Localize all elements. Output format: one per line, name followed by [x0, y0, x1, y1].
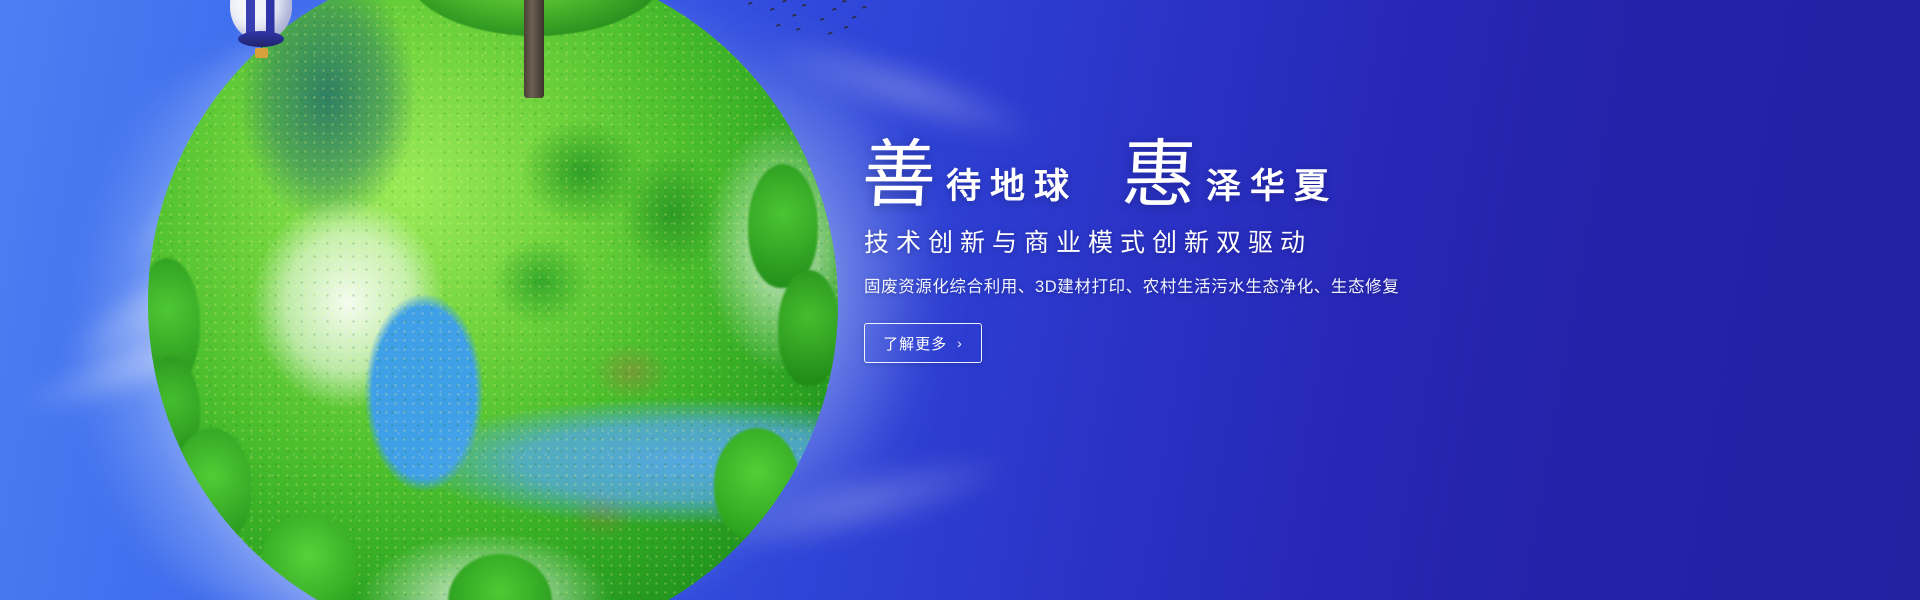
birds-icon: [744, 0, 874, 54]
rim-tree-icon: [260, 514, 358, 600]
balloon-envelope: [230, 0, 292, 40]
learn-more-label: 了解更多: [883, 333, 947, 354]
page-title: 善 待地球 惠 泽华夏: [862, 126, 1562, 212]
hero-content: 善 待地球 惠 泽华夏 技术创新与商业模式创新双驱动 固废资源化综合利用、3D建…: [862, 126, 1562, 363]
tree-icon: [406, 0, 666, 96]
hero-banner: 善 待地球 惠 泽华夏 技术创新与商业模式创新双驱动 固废资源化综合利用、3D建…: [0, 0, 1920, 600]
headline-small-text-1: 待地球: [936, 169, 1078, 212]
rim-tree-icon: [714, 428, 800, 540]
rim-tree-icon: [148, 258, 200, 388]
tiny-planet-illustration: [148, 0, 838, 600]
rim-tree-icon: [172, 428, 252, 546]
rim-tree-icon: [148, 356, 200, 468]
headline-brush-char-1: 善: [860, 138, 938, 212]
chevron-right-icon: ›: [957, 336, 963, 350]
headline-small-text-2: 泽华夏: [1196, 169, 1338, 212]
description-text: 固废资源化综合利用、3D建材打印、农村生活污水生态净化、生态修复: [864, 276, 1562, 299]
rim-tree-icon: [448, 554, 552, 600]
balloon-basket: [255, 48, 268, 58]
rim-tree-icon: [778, 270, 838, 386]
tree-trunk: [524, 0, 544, 98]
headline-brush-char-2: 惠: [1120, 138, 1198, 212]
tagline: 技术创新与商业模式创新双驱动: [864, 228, 1562, 258]
learn-more-button[interactable]: 了解更多 ›: [864, 323, 982, 363]
rim-tree-icon: [748, 164, 818, 288]
hot-air-balloon-icon: [230, 0, 292, 60]
